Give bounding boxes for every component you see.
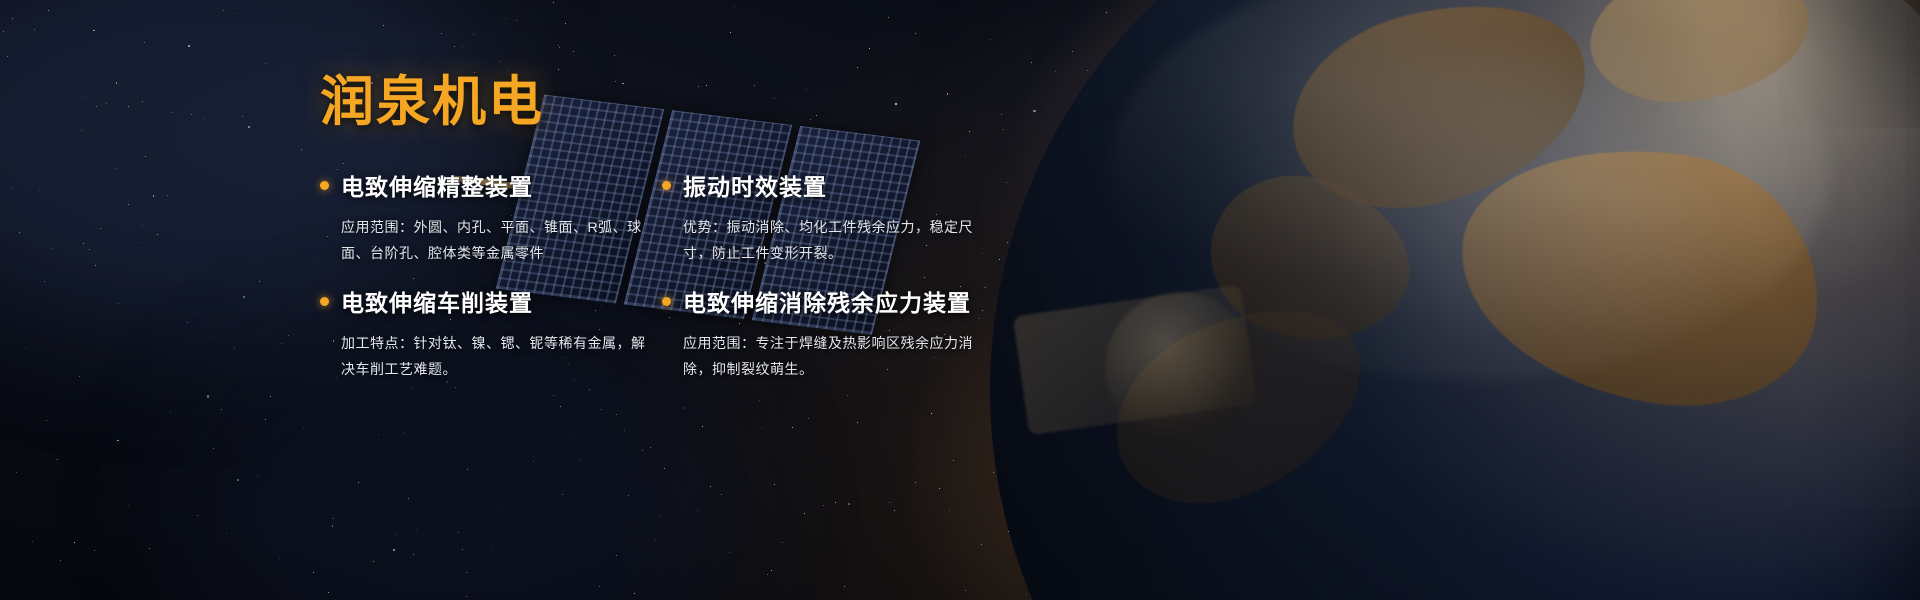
feature-title: 电致伸缩精整装置 [341, 168, 533, 202]
feature-description: 优势：振动消除、均化工件残余应力，稳定尺寸，防止工件变形开裂。 [662, 214, 992, 266]
hero-banner: 润泉机电 电致伸缩精整装置 应用范围：外圆、内孔、平面、锥面、R弧、球面、台阶孔… [0, 0, 1920, 600]
earth-landmass [1584, 0, 1816, 111]
feature-item-4[interactable]: 电致伸缩消除残余应力装置 应用范围：专注于焊缝及热影响区残余应力消除，抑制裂纹萌… [662, 284, 992, 382]
earth-landmass [1187, 148, 1432, 371]
earth-sphere [990, 0, 1920, 600]
feature-title: 振动时效装置 [683, 168, 827, 202]
earth-landmass [1087, 274, 1394, 535]
earth-landmass [1444, 126, 1835, 424]
banner-content: 润泉机电 电致伸缩精整装置 应用范围：外圆、内孔、平面、锥面、R弧、球面、台阶孔… [320, 72, 1040, 382]
feature-grid: 电致伸缩精整装置 应用范围：外圆、内孔、平面、锥面、R弧、球面、台阶孔、腔体类等… [320, 168, 1040, 382]
earth-graphic [990, 0, 1920, 600]
earth-clouds [1110, 0, 1830, 380]
feature-heading: 电致伸缩车削装置 [320, 284, 650, 318]
satellite-dish [1105, 292, 1255, 442]
feature-title: 电致伸缩车削装置 [341, 284, 533, 318]
feature-description: 应用范围：专注于焊缝及热影响区残余应力消除，抑制裂纹萌生。 [662, 330, 992, 382]
brand-title: 润泉机电 [320, 72, 1040, 132]
feature-heading: 电致伸缩精整装置 [320, 168, 650, 202]
feature-item-1[interactable]: 电致伸缩精整装置 应用范围：外圆、内孔、平面、锥面、R弧、球面、台阶孔、腔体类等… [320, 168, 650, 266]
earth-landmass [1271, 0, 1608, 233]
satellite-body [1013, 285, 1257, 436]
bullet-dot-icon [662, 297, 671, 306]
nebula-glow-right [1020, 0, 1540, 340]
feature-description: 应用范围：外圆、内孔、平面、锥面、R弧、球面、台阶孔、腔体类等金属零件 [320, 214, 650, 266]
feature-item-2[interactable]: 振动时效装置 优势：振动消除、均化工件残余应力，稳定尺寸，防止工件变形开裂。 [662, 168, 992, 266]
feature-title: 电致伸缩消除残余应力装置 [683, 284, 971, 318]
feature-item-3[interactable]: 电致伸缩车削装置 加工特点：针对钛、镍、锶、铌等稀有金属，解决车削工艺难题。 [320, 284, 650, 382]
bullet-dot-icon [662, 181, 671, 190]
feature-heading: 电致伸缩消除残余应力装置 [662, 284, 992, 318]
bullet-dot-icon [320, 181, 329, 190]
feature-description: 加工特点：针对钛、镍、锶、铌等稀有金属，解决车削工艺难题。 [320, 330, 650, 382]
earth-terminator-shadow [990, 0, 1920, 600]
bullet-dot-icon [320, 297, 329, 306]
feature-heading: 振动时效装置 [662, 168, 992, 202]
earth-sun-glow [964, 0, 1920, 600]
